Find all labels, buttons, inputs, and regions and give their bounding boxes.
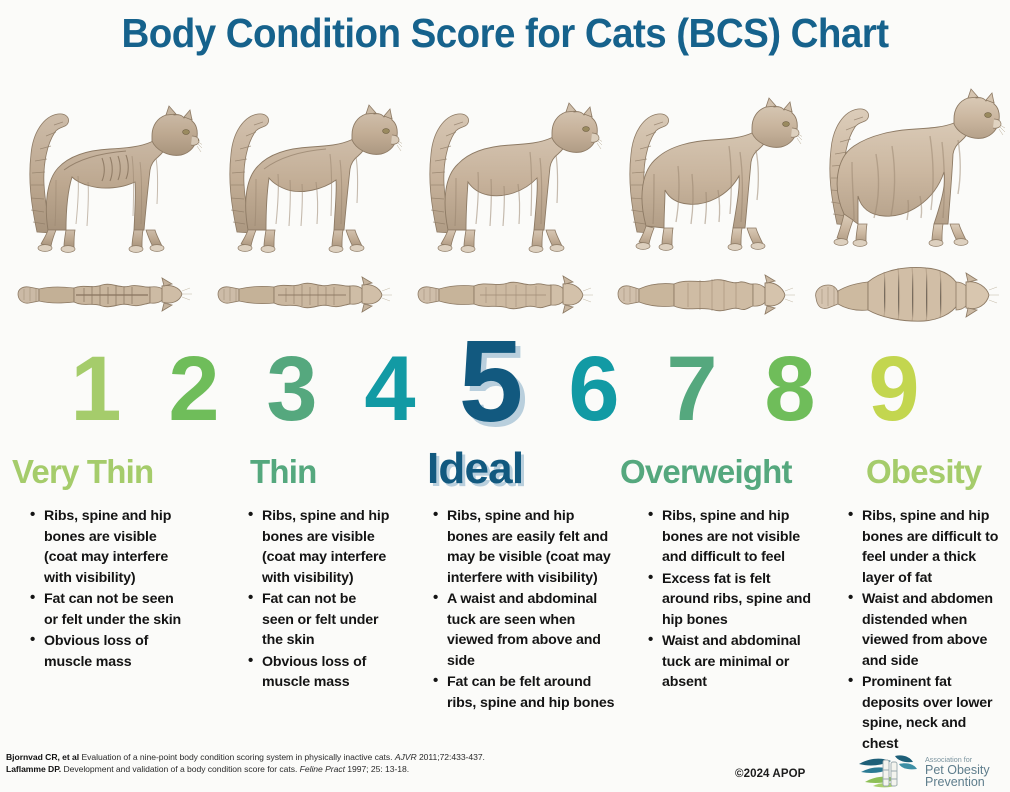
cat-side-view-row (0, 84, 1010, 264)
reference-2: Laflamme DP. Development and validation … (6, 764, 546, 776)
cat-side-obese (806, 84, 1006, 264)
list-item: Prominent fat deposits over lower spine,… (862, 672, 1005, 754)
list-item: Fat can not be seen or felt under the sk… (44, 589, 187, 630)
page-title: Body Condition Score for Cats (BCS) Char… (30, 10, 979, 56)
bcs-number-7: 7 (646, 336, 736, 442)
reference-1-journal: AJVR (395, 752, 417, 762)
list-item: Waist and abdominal tuck are minimal or … (662, 631, 817, 693)
list-item: Excess fat is felt around ribs, spine an… (662, 569, 817, 631)
category-column-obesity: Ribs, spine and hip bones are difficult … (845, 506, 1005, 755)
cat-side-thin (206, 84, 402, 264)
list-item: Ribs, spine and hip bones are difficult … (862, 506, 1005, 588)
category-heading-thin: Thin (250, 452, 316, 492)
bcs-number-6: 6 (548, 336, 638, 442)
logo-mark (859, 755, 917, 787)
category-heading-ideal: Ideal (427, 447, 523, 491)
reference-1-text: Evaluation of a nine-point body conditio… (79, 752, 395, 762)
list-item: Fat can not be seen or felt under the sk… (262, 589, 391, 651)
bcs-number-scale: 1 2 3 4 5 6 7 8 9 (0, 336, 1010, 442)
list-item: Ribs, spine and hip bones are visible (c… (44, 506, 187, 588)
category-heading-very-thin: Very Thin (12, 452, 153, 492)
cat-side-very-thin (6, 84, 202, 264)
list-item: Waist and abdomen distended when viewed … (862, 589, 1005, 671)
cat-top-obese (806, 258, 1006, 330)
list-item: Ribs, spine and hip bones are easily fel… (447, 506, 616, 588)
reference-2-citation: 1997; 25: 13-18. (345, 764, 409, 774)
list-item: Obvious loss of muscle mass (262, 652, 391, 693)
reference-2-authors: Laflamme DP. (6, 764, 61, 774)
reference-1: Bjornvad CR, et al Evaluation of a nine-… (6, 752, 546, 764)
bcs-number-4: 4 (344, 336, 434, 442)
reference-2-text: Development and validation of a body con… (61, 764, 300, 774)
apop-logo: Association for Pet Obesity Prevention (855, 752, 1005, 790)
cat-top-thin (206, 258, 402, 330)
reference-1-citation: 2011;72:433-437. (417, 752, 485, 762)
logo-line-3: Prevention (925, 775, 985, 789)
list-item: Obvious loss of muscle mass (44, 631, 187, 672)
list-item: A waist and abdominal tuck are seen when… (447, 589, 616, 671)
cat-top-overweight (606, 258, 802, 330)
cat-top-very-thin (6, 258, 202, 330)
list-item: Fat can be felt around ribs, spine and h… (447, 672, 616, 713)
list-item: Ribs, spine and hip bones are not visibl… (662, 506, 817, 568)
bcs-number-5: 5 (440, 328, 540, 434)
cat-side-overweight (606, 84, 802, 264)
bcs-number-9: 9 (848, 336, 938, 442)
reference-list: Bjornvad CR, et al Evaluation of a nine-… (6, 752, 546, 775)
category-column-overweight: Ribs, spine and hip bones are not visibl… (645, 506, 817, 694)
bcs-number-2: 2 (148, 336, 238, 442)
category-heading-overweight: Overweight (620, 452, 792, 492)
reference-2-journal: Feline Pract (300, 764, 345, 774)
category-column-ideal: Ribs, spine and hip bones are easily fel… (430, 506, 616, 714)
list-item: Ribs, spine and hip bones are visible (c… (262, 506, 391, 588)
bcs-number-3: 3 (246, 336, 336, 442)
bcs-number-8: 8 (744, 336, 834, 442)
reference-1-authors: Bjornvad CR, et al (6, 752, 79, 762)
category-heading-obesity: Obesity (866, 452, 981, 492)
category-column-very-thin: Ribs, spine and hip bones are visible (c… (27, 506, 187, 673)
category-headings: Very Thin Thin Ideal Overweight Obesity (0, 452, 1010, 498)
copyright-notice: ©2024 APOP (735, 768, 805, 780)
cat-side-ideal (406, 84, 602, 264)
bcs-number-1: 1 (50, 336, 140, 442)
category-column-thin: Ribs, spine and hip bones are visible (c… (245, 506, 391, 694)
